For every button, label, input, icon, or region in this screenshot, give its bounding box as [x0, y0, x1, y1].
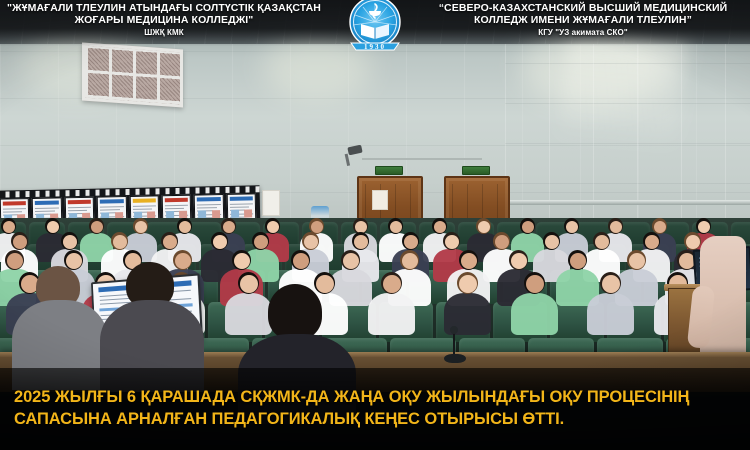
- audience-member-face: [459, 275, 477, 293]
- audience-member-face: [645, 235, 659, 249]
- audience-member-face: [13, 235, 27, 249]
- emblem-year: 1930: [364, 43, 386, 51]
- audience-member-face: [304, 235, 318, 249]
- header-subtitle-kazakh: ШЖҚ КМК: [6, 29, 322, 38]
- audience-member-face: [434, 221, 446, 233]
- audience-member-face: [175, 253, 191, 269]
- wall-rail: [505, 200, 750, 205]
- audience-member-face: [293, 253, 309, 269]
- audience-member-face: [311, 221, 323, 233]
- audience-member-face: [240, 275, 258, 293]
- audience-member-body: [225, 293, 273, 335]
- audience-member-face: [610, 221, 622, 233]
- audience-member-face: [383, 275, 401, 293]
- header-title-kazakh: "ЖҰМАҒАЛИ ТЛЕУЛИН АТЫНДАҒЫ СОЛТҮСТІК ҚАЗ…: [6, 3, 322, 37]
- audience-member-face: [461, 253, 477, 269]
- college-emblem-icon: 1930: [325, 0, 425, 56]
- header-title-russian: “СЕВЕРО-КАЗАХСТАНСКИЙ ВЫСШИЙ МЕДИЦИНСКИЙ…: [422, 3, 744, 37]
- audience-member-face: [698, 221, 710, 233]
- audience-member-face: [163, 235, 177, 249]
- audience-member-face: [595, 235, 609, 249]
- header-subtitle-russian: КГУ "УЗ акимата СКО": [422, 29, 744, 38]
- wall-grille-window: [82, 42, 183, 107]
- audience-member-face: [3, 221, 15, 233]
- audience-member-body: [587, 293, 635, 335]
- header-title-kazakh-text: "ЖҰМАҒАЛИ ТЛЕУЛИН АТЫНДАҒЫ СОЛТҮСТІК ҚАЗ…: [6, 3, 322, 27]
- wall-conduit: [362, 158, 482, 160]
- audience-member-face: [66, 253, 82, 269]
- audience-member-face: [254, 235, 268, 249]
- audience-member-face: [343, 253, 359, 269]
- audience-member-face: [47, 221, 59, 233]
- audience-member-face: [522, 221, 534, 233]
- caption-text: 2025 ЖЫЛҒЫ 6 ҚАРАШАДА СҚЖМК-ДА ЖАҢА ОҚУ …: [0, 387, 750, 431]
- exit-sign: [462, 166, 490, 175]
- audience-member-face: [267, 221, 279, 233]
- audience-member-face: [390, 221, 402, 233]
- audience-member-face: [478, 221, 490, 233]
- audience-member-face: [686, 235, 700, 249]
- social-media-announcement-image: "ЖҰМАҒАЛИ ТЛЕУЛИН АТЫНДАҒЫ СОЛТҮСТІК ҚАЗ…: [0, 0, 750, 450]
- audience-member-face: [7, 253, 23, 269]
- wall-box: [262, 190, 280, 216]
- audience-member-face: [629, 253, 645, 269]
- audience-member-face: [526, 275, 544, 293]
- audience-member-face: [404, 235, 418, 249]
- audience-member-body: [368, 293, 416, 335]
- audience-member-face: [402, 253, 418, 269]
- audience-member-face: [602, 275, 620, 293]
- audience-member-face: [354, 235, 368, 249]
- audience-member-face: [566, 221, 578, 233]
- exit-sign: [375, 166, 403, 175]
- audience-member-face: [495, 235, 509, 249]
- audience-member-face: [91, 221, 103, 233]
- audience-member-face: [113, 235, 127, 249]
- audience-member-face: [445, 235, 459, 249]
- audience-member-face: [179, 221, 191, 233]
- audience-member-face: [570, 253, 586, 269]
- right-wall-panels: [505, 44, 750, 224]
- audience-member-face: [63, 235, 77, 249]
- audience-member-face: [511, 253, 527, 269]
- door-notice: [372, 190, 388, 210]
- microphone: [452, 330, 457, 364]
- audience-member-body: [511, 293, 559, 335]
- caption-bar: 2025 ЖЫЛҒЫ 6 ҚАРАШАДА СҚЖМК-ДА ЖАҢА ОҚУ …: [0, 368, 750, 450]
- audience-member-face: [545, 235, 559, 249]
- audience-member-face: [223, 221, 235, 233]
- audience-member-face: [654, 221, 666, 233]
- grille-mesh: [85, 46, 180, 105]
- audience-member-face: [234, 253, 250, 269]
- audience-member-face: [316, 275, 334, 293]
- header-title-russian-text: “СЕВЕРО-КАЗАХСТАНСКИЙ ВЫСШИЙ МЕДИЦИНСКИЙ…: [422, 3, 744, 27]
- audience-member-face: [213, 235, 227, 249]
- audience-member-face: [135, 221, 147, 233]
